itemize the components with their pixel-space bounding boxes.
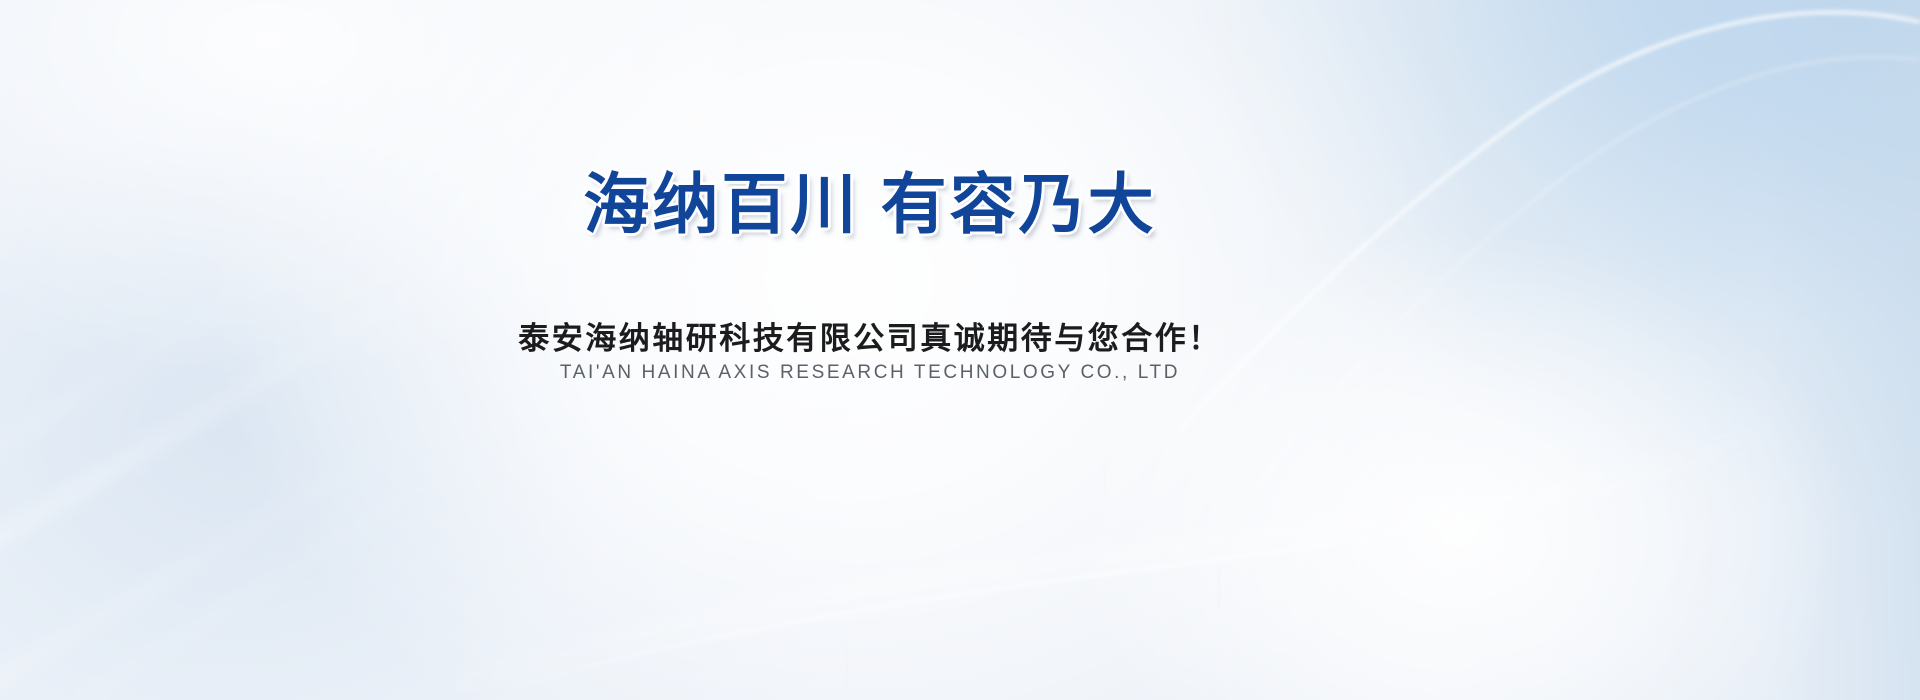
banner-subtitle-chinese: 泰安海纳轴研科技有限公司真诚期待与您合作！ [0,313,1920,358]
hero-banner: 海纳百川 有容乃大 泰安海纳轴研科技有限公司真诚期待与您合作！ TAI'AN H… [0,0,1920,700]
banner-content: 海纳百川 有容乃大 泰安海纳轴研科技有限公司真诚期待与您合作！ TAI'AN H… [0,0,1920,700]
banner-subtitle-english: TAI'AN HAINA AXIS RESEARCH TECHNOLOGY CO… [0,362,1920,384]
banner-headline: 海纳百川 有容乃大 [0,168,1920,241]
